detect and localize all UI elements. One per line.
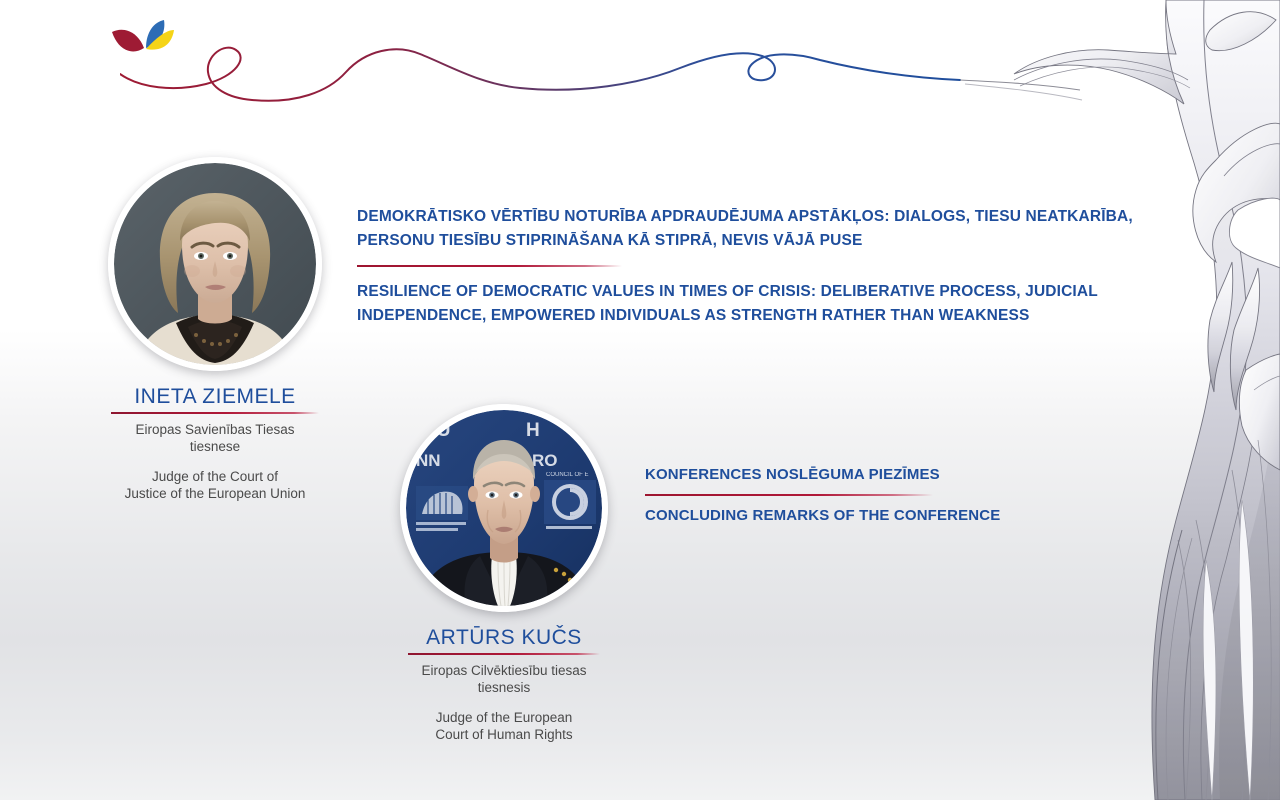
svg-text:RO: RO (532, 451, 558, 470)
decorative-swirl-line (120, 22, 1130, 132)
portrait-arturs-kucs: OU H NN RO (406, 410, 602, 606)
talk-title-lv: KONFERENCES NOSLĒGUMA PIEZĪMES (645, 464, 1075, 485)
speaker-name-underline (408, 653, 600, 655)
speaker-name-underline (111, 412, 319, 414)
talk-title-en: RESILIENCE OF DEMOCRATIC VALUES IN TIMES… (357, 280, 1152, 328)
speaker-name: INETA ZIEMELE (105, 385, 325, 409)
talk-title-en: CONCLUDING REMARKS OF THE CONFERENCE (645, 505, 1075, 526)
talk-divider (645, 494, 933, 496)
speaker-role-lv: Eiropas Savienības Tiesas tiesnese (105, 421, 325, 455)
speaker-role-lv: Eiropas Cilvēktiesību tiesas tiesnesis (398, 662, 610, 696)
avatar: OU H NN RO (400, 404, 608, 612)
speaker-name: ARTŪRS KUČS (398, 626, 610, 650)
svg-text:OU: OU (422, 420, 451, 441)
talk-title-lv: DEMOKRĀTISKO VĒRTĪBU NOTURĪBA APDRAUDĒJU… (357, 205, 1152, 253)
presentation-slide: INETA ZIEMELE Eiropas Savienības Tiesas … (0, 0, 1280, 800)
speaker-role-en: Judge of the Court of Justice of the Eur… (105, 468, 325, 502)
svg-text:COUNCIL OF E: COUNCIL OF E (546, 472, 588, 478)
conference-leaf-logo (108, 18, 178, 74)
decorative-tree-graphic (980, 0, 1280, 800)
talk-block-resilience: DEMOKRĀTISKO VĒRTĪBU NOTURĪBA APDRAUDĒJU… (357, 205, 1152, 328)
speaker-role-en: Judge of the European Court of Human Rig… (398, 709, 610, 743)
svg-text:NN: NN (416, 451, 441, 470)
talk-block-concluding: KONFERENCES NOSLĒGUMA PIEZĪMES CONCLUDIN… (645, 464, 1075, 526)
speaker-card-arturs-kucs: OU H NN RO (398, 404, 610, 743)
svg-text:H: H (526, 420, 540, 441)
speaker-card-ineta-ziemele: INETA ZIEMELE Eiropas Savienības Tiesas … (105, 157, 325, 502)
talk-divider (357, 265, 622, 267)
avatar (108, 157, 322, 371)
portrait-ineta-ziemele (114, 163, 316, 365)
